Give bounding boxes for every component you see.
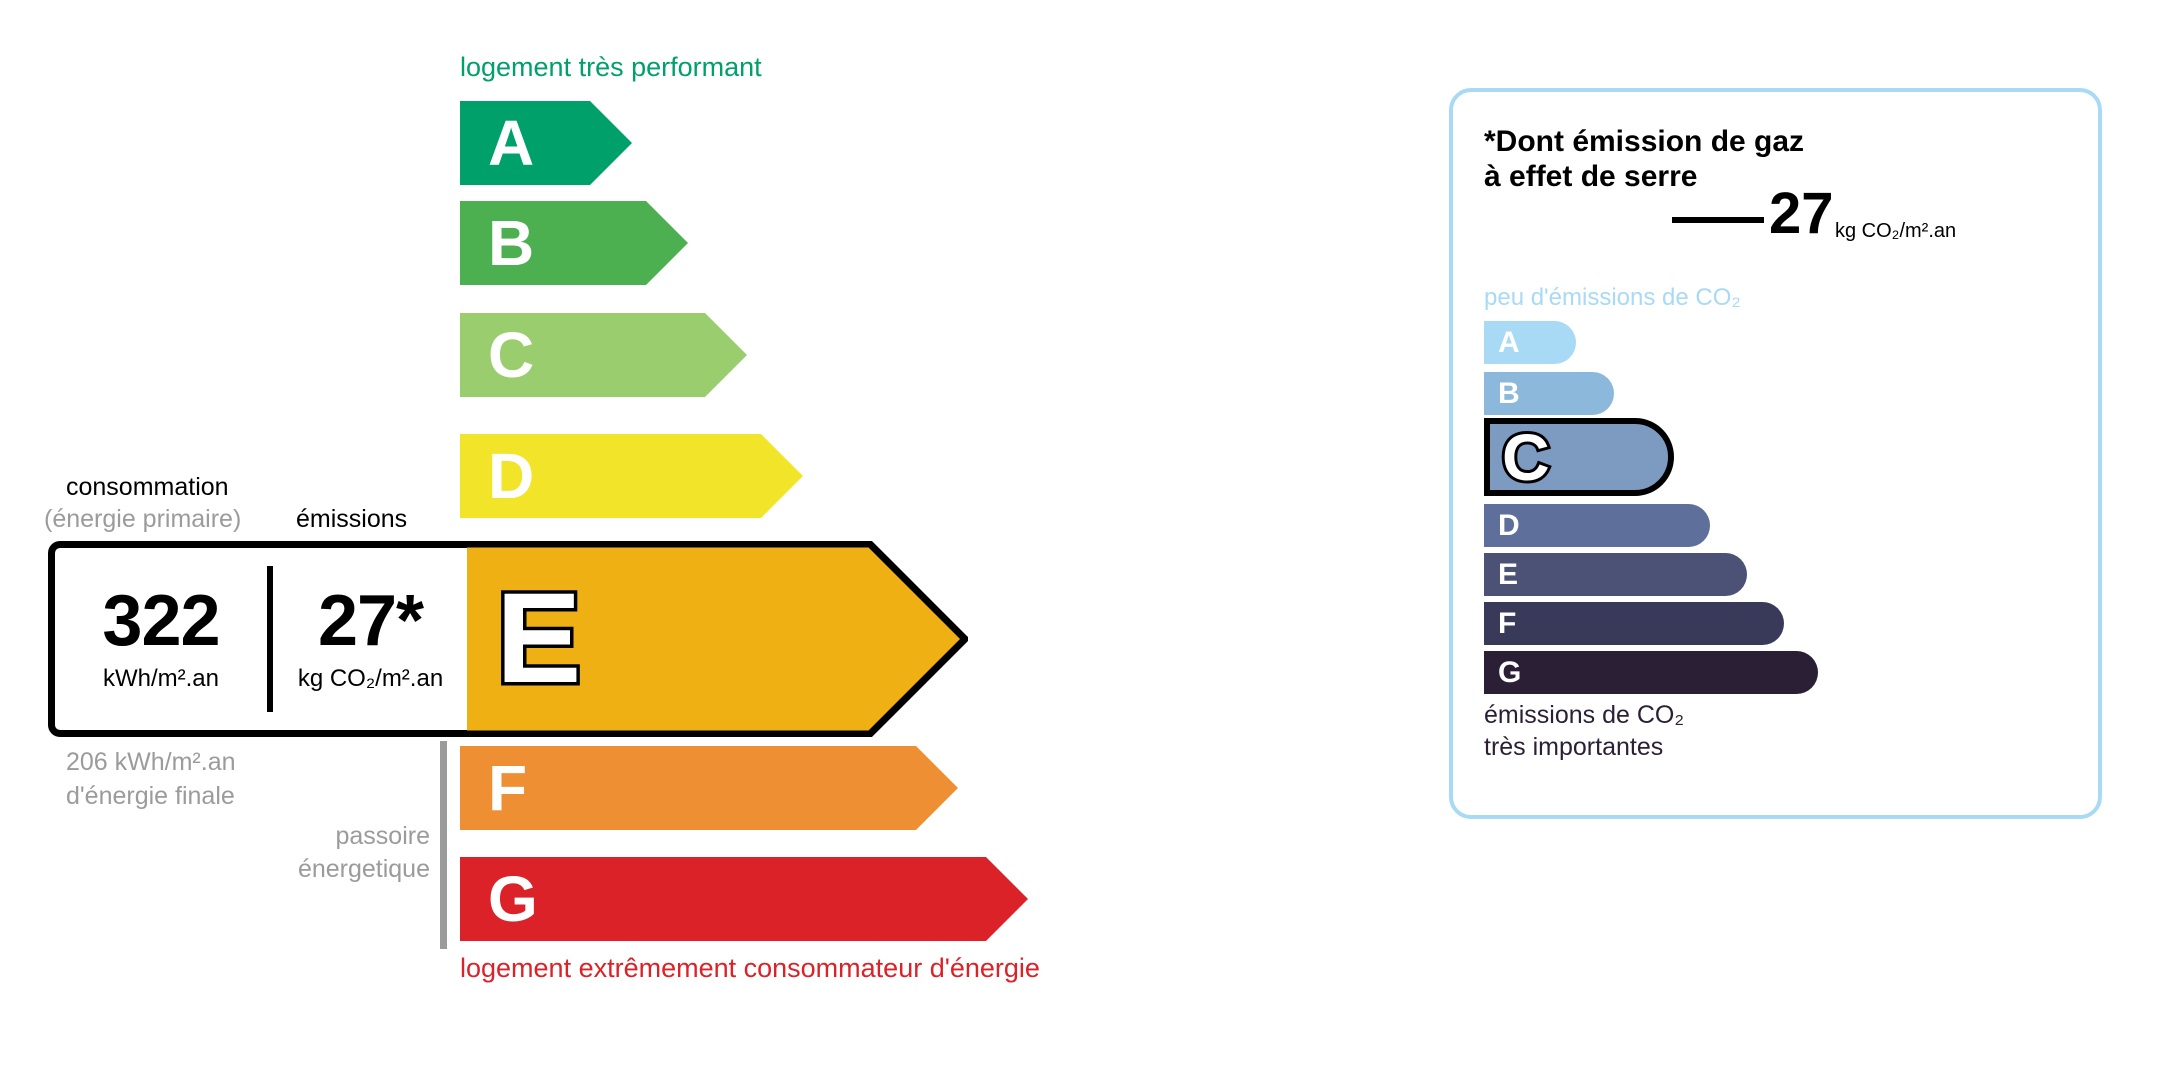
- energy-band-f-body: [460, 746, 916, 830]
- value-box: 322 kWh/m².an 27* kg CO₂/m².an: [48, 541, 467, 737]
- energy-consumption-chart: logement très performant A B C: [0, 0, 1400, 1079]
- co2-band-e-letter: E: [1498, 558, 1518, 592]
- co2-value-cell: 27* kg CO₂/m².an: [273, 548, 468, 730]
- co2-panel-value: 27: [1769, 185, 1834, 243]
- energy-band-a[interactable]: A: [460, 101, 632, 185]
- passoire-line-2: énergetique: [0, 853, 430, 886]
- co2-band-g[interactable]: G: [1484, 651, 1818, 694]
- energy-band-e-letter: E: [496, 575, 581, 703]
- energy-value: 322: [102, 585, 219, 657]
- energy-band-a-tip: [590, 101, 632, 185]
- final-energy-label: d'énergie finale: [66, 782, 235, 811]
- energy-band-a-arrow: [460, 101, 632, 185]
- energy-band-c[interactable]: C: [460, 313, 747, 397]
- energy-band-b[interactable]: B: [460, 201, 688, 285]
- energy-band-g-tip: [986, 857, 1028, 941]
- energy-band-d-tip: [761, 434, 803, 518]
- co2-band-f[interactable]: F: [1484, 602, 1784, 645]
- co2-band-e[interactable]: E: [1484, 553, 1747, 596]
- energy-band-f-letter: F: [488, 756, 527, 820]
- energy-band-d-letter: D: [488, 444, 534, 508]
- co2-band-b-letter: B: [1498, 377, 1520, 411]
- co2-band-f-pill: [1484, 602, 1784, 645]
- co2-panel-value-unit: kg CO₂/m².an: [1835, 220, 1956, 243]
- passoire-line-1: passoire: [0, 820, 430, 853]
- co2-bottom-caption: émissions de CO₂ très importantes: [1484, 699, 1684, 763]
- energy-band-f-arrow: [460, 746, 958, 830]
- energy-band-b-tip: [646, 201, 688, 285]
- passoire-energetique-label: passoire énergetique: [0, 820, 430, 886]
- energy-band-f[interactable]: F: [460, 746, 958, 830]
- energy-band-b-letter: B: [488, 211, 534, 275]
- co2-top-caption: peu d'émissions de CO₂: [1484, 284, 1741, 312]
- ladder-top-caption: logement très performant: [460, 52, 762, 83]
- energy-band-a-letter: A: [488, 111, 534, 175]
- energy-band-c-tip: [705, 313, 747, 397]
- energy-band-f-tip: [916, 746, 958, 830]
- co2-panel-title: *Dont émission de gaz à effet de serre: [1484, 124, 1804, 195]
- label-consommation: consommation: [66, 473, 229, 502]
- energy-unit: kWh/m².an: [103, 665, 219, 693]
- co2-band-g-letter: G: [1498, 656, 1521, 690]
- label-energie-primaire: (énergie primaire): [44, 505, 241, 534]
- co2-leader-line: [1672, 217, 1764, 223]
- co2-band-c-letter: C: [1502, 419, 1550, 495]
- energy-band-g[interactable]: G: [460, 857, 1028, 941]
- passoire-indicator-bar: [440, 741, 447, 949]
- energy-band-g-body: [460, 857, 986, 941]
- energy-band-c-letter: C: [488, 323, 534, 387]
- co2-band-e-pill: [1484, 553, 1747, 596]
- co2-band-a-letter: A: [1498, 326, 1520, 360]
- co2-band-c-selected[interactable]: C: [1484, 418, 1674, 496]
- dpe-label: logement très performant A B C: [0, 0, 2169, 1079]
- co2-band-a[interactable]: A: [1484, 321, 1576, 364]
- co2-value: 27*: [318, 585, 423, 657]
- co2-band-f-letter: F: [1498, 607, 1516, 641]
- co2-band-g-pill: [1484, 651, 1818, 694]
- co2-band-b[interactable]: B: [1484, 372, 1614, 415]
- final-energy-value: 206 kWh/m².an: [66, 748, 236, 777]
- label-emissions: émissions: [296, 505, 407, 534]
- co2-band-d[interactable]: D: [1484, 504, 1710, 547]
- co2-unit: kg CO₂/m².an: [298, 665, 443, 693]
- energy-band-e-selected[interactable]: E: [460, 541, 968, 737]
- energy-value-cell: 322 kWh/m².an: [55, 548, 267, 730]
- co2-band-d-letter: D: [1498, 509, 1520, 543]
- ladder-bottom-caption: logement extrêmement consommateur d'éner…: [460, 953, 1040, 984]
- energy-band-g-arrow: [460, 857, 1028, 941]
- energy-band-g-letter: G: [488, 867, 538, 931]
- energy-band-d[interactable]: D: [460, 434, 803, 518]
- co2-emissions-panel: *Dont émission de gaz à effet de serre p…: [1449, 88, 2102, 819]
